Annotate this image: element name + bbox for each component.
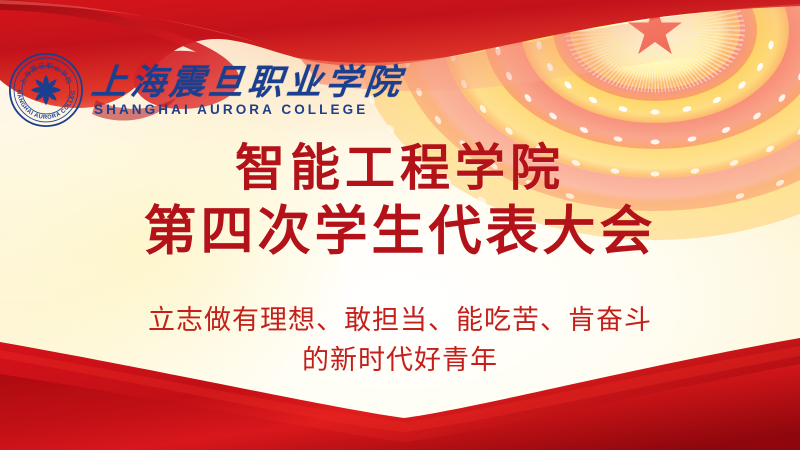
college-logo: 上海震旦职业学院 SHANGHAI AURORA COLLEGE (8, 50, 358, 140)
poster-subtitle: 立志做有理想、敢担当、能吃苦、肯奋斗 的新时代好青年 (0, 300, 800, 380)
subtitle-line-2: 的新时代好青年 (0, 340, 800, 380)
subtitle-line-1: 立志做有理想、敢担当、能吃苦、肯奋斗 (0, 300, 800, 340)
poster-title: 智能工程学院 第四次学生代表大会 (0, 136, 800, 264)
title-line-2: 第四次学生代表大会 (0, 200, 800, 264)
poster-canvas: 上海震旦职业学院 SHANGHAI AURORA COLLEGE (0, 0, 800, 450)
logo-wordmark-cn: 上海震旦职业学院 (89, 54, 406, 105)
shanghai-aurora-college-seal-icon: 上海震旦职业学院 SHANGHAI AURORA COLLEGE (8, 52, 84, 128)
logo-wordmark-en: SHANGHAI AURORA COLLEGE (94, 102, 368, 117)
title-line-1: 智能工程学院 (0, 136, 800, 200)
